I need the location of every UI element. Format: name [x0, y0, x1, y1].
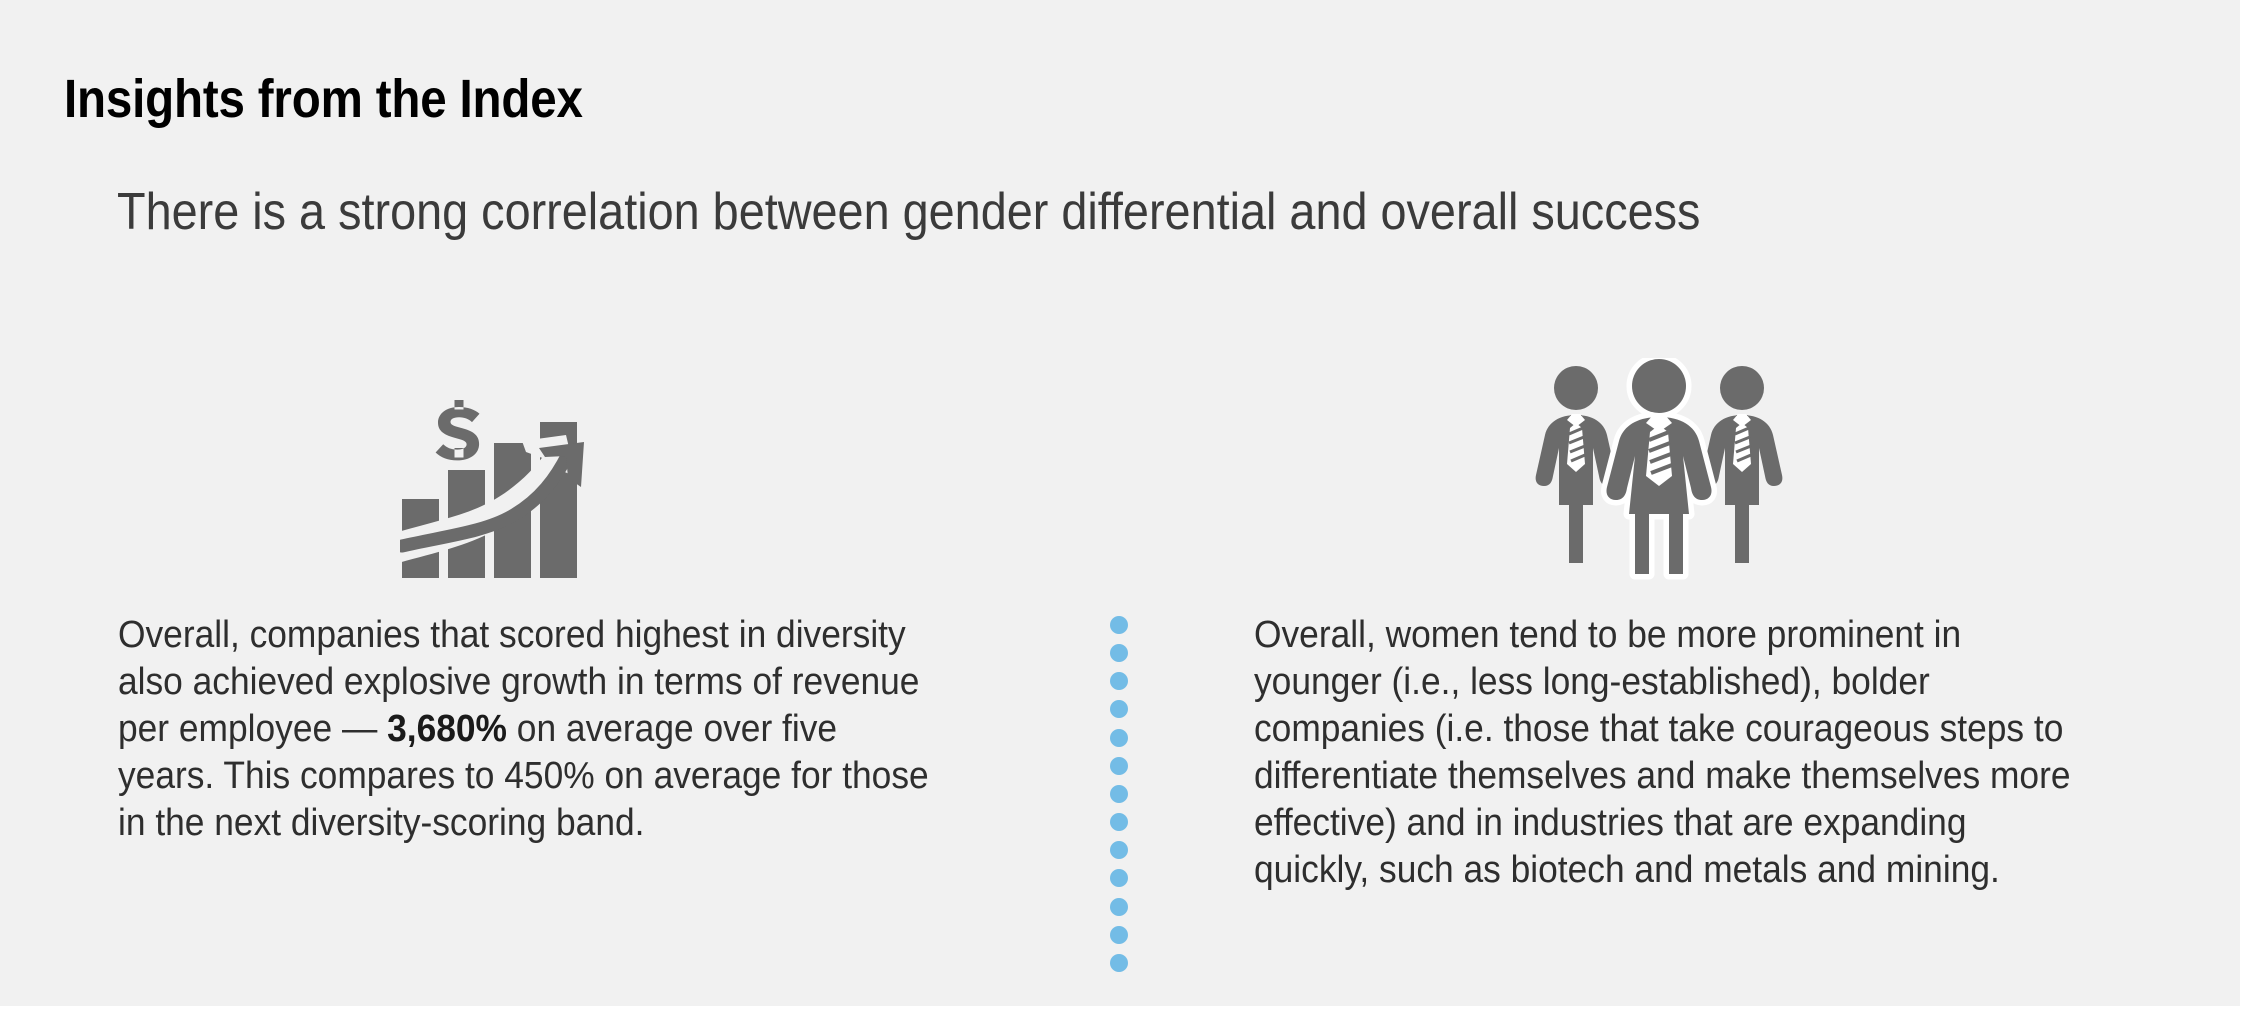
- divider-dot: [1110, 785, 1128, 803]
- page-subtitle: There is a strong correlation between ge…: [117, 182, 1700, 242]
- person-center-woman: [1606, 359, 1711, 574]
- divider-dot: [1110, 926, 1128, 944]
- divider-dot: [1110, 672, 1128, 690]
- divider-dot: [1110, 869, 1128, 887]
- divider-dot: [1110, 729, 1128, 747]
- vertical-dotted-divider: [1108, 616, 1130, 972]
- dollar-sign-glyph: [436, 400, 480, 460]
- divider-dot: [1110, 841, 1128, 859]
- insight-column-right: Overall, women tend to be more prominent…: [1254, 612, 2134, 894]
- three-business-people-icon: [1534, 358, 1784, 590]
- insight-highlight-left: 3,680%: [387, 708, 507, 750]
- divider-dot: [1110, 700, 1128, 718]
- divider-dot: [1110, 757, 1128, 775]
- slide-canvas: Insights from the Index There is a stron…: [0, 0, 2240, 1006]
- page-title: Insights from the Index: [64, 68, 583, 130]
- insight-column-left: Overall, companies that scored highest i…: [118, 612, 998, 847]
- insight-text-right: Overall, women tend to be more prominent…: [1254, 612, 2072, 894]
- divider-dot: [1110, 813, 1128, 831]
- divider-dot: [1110, 898, 1128, 916]
- tie-center: [1646, 415, 1672, 486]
- divider-dot: [1110, 644, 1128, 662]
- divider-dot: [1110, 616, 1128, 634]
- insight-text-left: Overall, companies that scored highest i…: [118, 612, 936, 847]
- growth-bar-chart-dollar-arrow-icon: [400, 396, 600, 582]
- divider-dot: [1110, 954, 1128, 972]
